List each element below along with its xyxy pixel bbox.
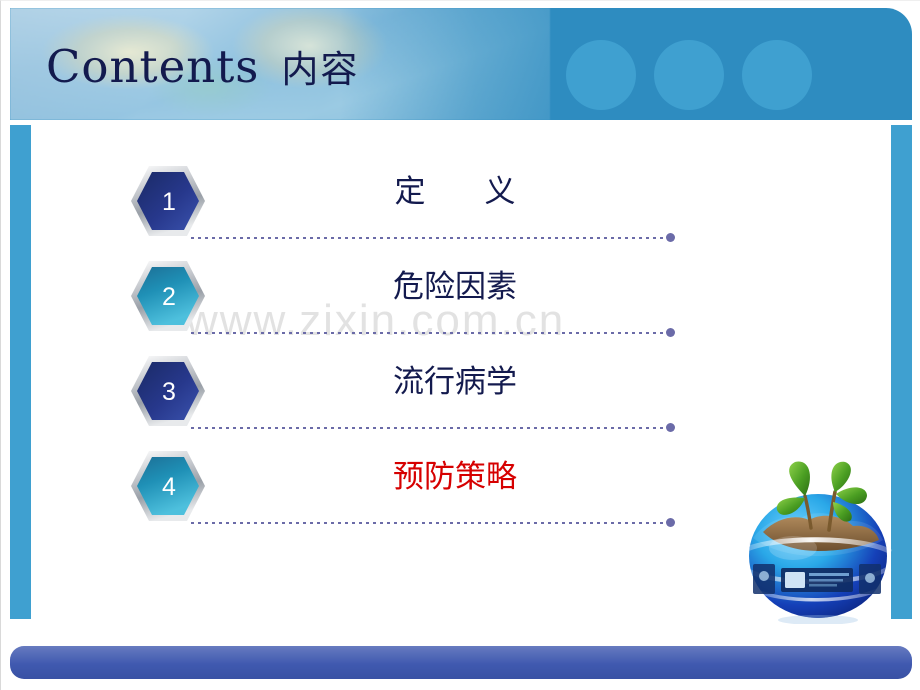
- connector-end-dot: [666, 518, 675, 527]
- hex-badge-2[interactable]: 2: [129, 259, 207, 333]
- contents-slide: Contents内容 www.zixin.com.cn: [0, 0, 920, 690]
- list-item[interactable]: 4 预防策略: [0, 435, 920, 530]
- connector-end-dot: [666, 328, 675, 337]
- connector-end-dot: [666, 423, 675, 432]
- footer-bar: [10, 646, 912, 679]
- contents-list: 1 定 义: [0, 150, 920, 530]
- hex-badge-4[interactable]: 4: [129, 449, 207, 523]
- hex-number: 3: [129, 354, 207, 428]
- header-circle-2: [654, 40, 724, 110]
- hex-number: 2: [129, 259, 207, 333]
- header-circle-1: [566, 40, 636, 110]
- hex-badge-3[interactable]: 3: [129, 354, 207, 428]
- page-title-en: Contents: [46, 40, 259, 93]
- dotted-connector: [191, 427, 668, 429]
- list-item[interactable]: 3 流行病学: [0, 340, 920, 435]
- dotted-connector: [191, 332, 668, 334]
- connector-end-dot: [666, 233, 675, 242]
- hex-number: 1: [129, 164, 207, 238]
- page-title-cn: 内容: [281, 48, 359, 91]
- page-title: Contents内容: [46, 44, 359, 89]
- dotted-connector: [191, 522, 668, 524]
- list-item[interactable]: 2 危险因素: [0, 245, 920, 340]
- header-circle-3: [742, 40, 812, 110]
- list-item-label: 危险因素: [240, 261, 670, 306]
- list-item-label: 流行病学: [240, 356, 670, 401]
- list-item-label: 预防策略: [240, 451, 670, 496]
- hex-badge-1[interactable]: 1: [129, 164, 207, 238]
- list-item[interactable]: 1 定 义: [0, 150, 920, 245]
- hex-number: 4: [129, 449, 207, 523]
- header-circle-group: [566, 40, 812, 110]
- dotted-connector: [191, 237, 668, 239]
- list-item-label: 定 义: [240, 166, 670, 211]
